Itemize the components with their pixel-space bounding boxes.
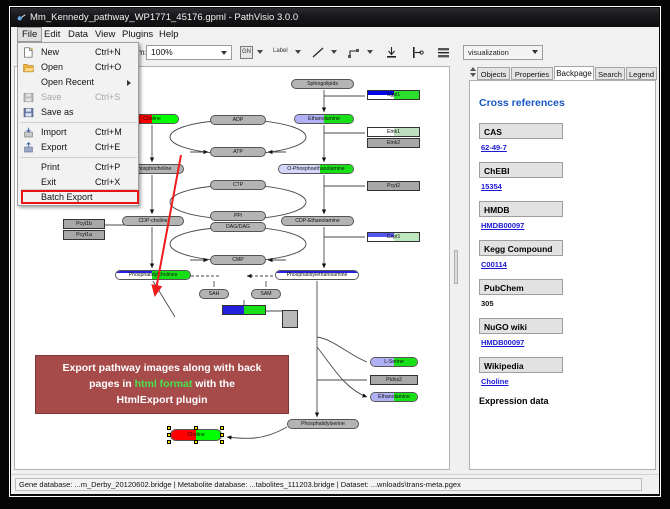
line-tool-icon[interactable]: [311, 45, 325, 60]
xref-value-pubchem: 305: [481, 299, 647, 308]
menu-separator: [21, 122, 137, 123]
menu-item-print[interactable]: Print Ctrl+P: [19, 160, 139, 175]
xref-label-chebi: ChEBI: [479, 162, 563, 178]
visualization-value: visualization: [468, 48, 509, 57]
tab-scroll-up-icon[interactable]: [470, 67, 476, 71]
splitter-grip[interactable]: [454, 250, 458, 284]
menu-item-new-shortcut: Ctrl+N: [95, 47, 121, 57]
callout-highlight: html format: [135, 378, 193, 390]
menu-plugins[interactable]: Plugins: [118, 28, 157, 41]
pathvisio-window: Mm_Kennedy_pathway_WP1771_45176.gpml - P…: [11, 8, 659, 494]
chevron-down-icon[interactable]: [331, 50, 337, 54]
xref-label-pubchem: PubChem: [479, 279, 563, 295]
save-as-icon: [23, 107, 34, 118]
menu-item-print-label: Print: [41, 162, 60, 172]
chevron-down-icon: [221, 51, 227, 55]
tab-objects[interactable]: Objects: [477, 67, 510, 80]
menu-item-import[interactable]: Import Ctrl+M: [19, 125, 139, 140]
xref-value-cas[interactable]: 62-49-7: [481, 143, 647, 152]
menu-item-batch-export-label: Batch Export: [41, 192, 93, 202]
new-file-icon: [23, 47, 34, 58]
window-title: Mm_Kennedy_pathway_WP1771_45176.gpml - P…: [30, 8, 298, 27]
title-bar: Mm_Kennedy_pathway_WP1771_45176.gpml - P…: [11, 8, 659, 27]
callout-line-1: Export pathway images along with back: [36, 360, 288, 376]
expression-data-heading: Expression data: [479, 396, 647, 406]
callout-line-2a: pages in: [89, 378, 135, 390]
menu-item-import-shortcut: Ctrl+M: [95, 127, 122, 137]
screenshot-frame: Mm_Kennedy_pathway_WP1771_45176.gpml - P…: [0, 0, 670, 509]
menu-item-new-label: New: [41, 47, 59, 57]
annotation-callout: Export pathway images along with back pa…: [35, 355, 289, 414]
callout-line-3: HtmlExport plugin: [36, 392, 288, 408]
pathvisio-icon: [17, 13, 26, 22]
xref-label-wikipedia: Wikipedia: [479, 357, 563, 373]
chevron-down-icon[interactable]: [295, 50, 301, 54]
tab-search[interactable]: Search: [595, 67, 625, 80]
chevron-down-icon: [532, 50, 538, 54]
tab-legend[interactable]: Legend: [626, 67, 657, 80]
menu-item-print-shortcut: Ctrl+P: [95, 162, 120, 172]
menu-item-exit-shortcut: Ctrl+X: [95, 177, 120, 187]
menu-item-exit-label: Exit: [41, 177, 56, 187]
tab-properties[interactable]: Properties: [511, 67, 553, 80]
align-top-icon[interactable]: [385, 45, 398, 60]
side-panel: Objects Properties Backpage Search Legen…: [461, 66, 656, 470]
panel-splitter[interactable]: [452, 66, 460, 470]
menu-item-exit[interactable]: Exit Ctrl+X: [19, 175, 139, 190]
menu-item-export-label: Export: [41, 142, 67, 152]
xref-label-kegg: Kegg Compound: [479, 240, 563, 256]
export-icon: [23, 142, 34, 153]
zoom-combobox[interactable]: 100%: [146, 45, 232, 60]
menu-help[interactable]: Help: [155, 28, 183, 41]
menu-item-open-label: Open: [41, 62, 63, 72]
menu-item-save[interactable]: Save Ctrl+S: [19, 90, 139, 105]
import-icon: [23, 127, 34, 138]
chevron-down-icon[interactable]: [367, 50, 373, 54]
menu-item-export[interactable]: Export Ctrl+E: [19, 140, 139, 155]
chevron-right-icon: [127, 80, 131, 86]
tab-backpage[interactable]: Backpage: [554, 66, 594, 80]
file-menu-dropdown[interactable]: New Ctrl+N Open Ctrl+O Open Recent: [17, 42, 139, 206]
menu-item-open-recent[interactable]: Open Recent: [19, 75, 139, 90]
menu-item-save-as-label: Save as: [41, 107, 74, 117]
callout-line-2b: with the: [192, 378, 235, 390]
cross-references-heading: Cross references: [479, 97, 647, 109]
menu-item-export-shortcut: Ctrl+E: [95, 142, 120, 152]
chevron-down-icon[interactable]: [257, 50, 263, 54]
menu-item-import-label: Import: [41, 127, 67, 137]
xref-value-chebi[interactable]: 15354: [481, 182, 647, 191]
interaction-tool-icon[interactable]: [347, 45, 361, 60]
menu-item-open-shortcut: Ctrl+O: [95, 62, 121, 72]
menu-item-save-as[interactable]: Save as: [19, 105, 139, 120]
callout-line-2: pages in html format with the: [36, 376, 288, 392]
menu-item-new[interactable]: New Ctrl+N: [19, 45, 139, 60]
visualization-combobox[interactable]: visualization: [463, 45, 543, 60]
xref-label-hmdb: HMDB: [479, 201, 563, 217]
menu-item-open[interactable]: Open Ctrl+O: [19, 60, 139, 75]
distribute-vertical-icon[interactable]: [437, 45, 450, 60]
xref-label-nugo: NuGO wiki: [479, 318, 563, 334]
xref-value-hmdb[interactable]: HMDB00097: [481, 221, 647, 230]
menu-bar: File Edit Data View Plugins Help: [11, 27, 659, 43]
menu-item-batch-export[interactable]: Batch Export: [19, 190, 139, 205]
label-tool-icon[interactable]: Label: [273, 48, 288, 54]
menu-separator: [21, 157, 137, 158]
status-text: Gene database: ...m_Derby_20120602.bridg…: [15, 478, 642, 491]
align-left-icon[interactable]: [411, 45, 424, 60]
zoom-value: 100%: [151, 47, 173, 57]
backpage-panel[interactable]: Cross references CAS 62-49-7 ChEBI 15354…: [469, 80, 656, 470]
menu-edit[interactable]: Edit: [40, 28, 64, 41]
xref-value-wikipedia[interactable]: Choline: [481, 377, 647, 386]
tab-scroll-down-icon[interactable]: [470, 73, 476, 77]
menu-data[interactable]: Data: [64, 28, 92, 41]
status-bar: Gene database: ...m_Derby_20120602.bridg…: [11, 474, 659, 494]
menu-file[interactable]: File: [17, 27, 42, 42]
tab-strip: Objects Properties Backpage Search Legen…: [469, 66, 656, 80]
menu-item-save-label: Save: [41, 92, 62, 102]
menu-view[interactable]: View: [91, 28, 119, 41]
datanode-tool-icon[interactable]: GN: [240, 46, 253, 59]
xref-value-kegg[interactable]: C00114: [481, 260, 647, 269]
xref-label-cas: CAS: [479, 123, 563, 139]
save-disk-icon: [23, 92, 34, 103]
open-folder-icon: [23, 62, 34, 73]
menu-item-open-recent-label: Open Recent: [41, 77, 94, 87]
menu-item-save-shortcut: Ctrl+S: [95, 92, 120, 102]
xref-value-nugo[interactable]: HMDB00097: [481, 338, 647, 347]
